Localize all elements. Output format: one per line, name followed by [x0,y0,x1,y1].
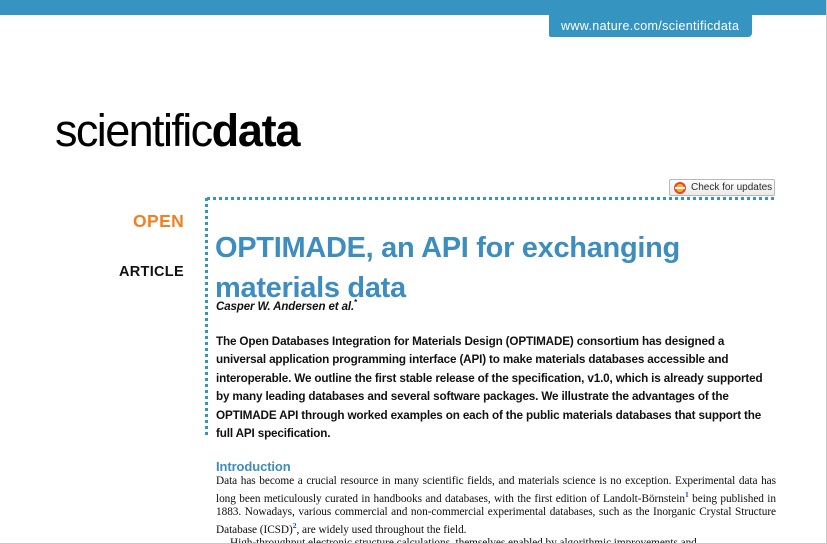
introduction-paragraph-2: High-throughput electronic structure cal… [216,537,776,544]
article-page: www.nature.com/scientificdata scientific… [0,0,827,544]
introduction-paragraph-1: Data has become a crucial resource in ma… [216,475,776,537]
journal-logo-word-data: data [212,105,300,156]
check-for-updates-label: Check for updates [691,180,772,195]
page-title: OPTIMADE, an API for exchanging material… [215,228,775,308]
open-access-label: OPEN [133,211,184,232]
article-type-label: ARTICLE [119,264,184,280]
vertical-dotted-rule [205,198,208,438]
introduction-body: Data has become a crucial resource in ma… [216,475,776,544]
check-for-updates-button[interactable]: Check for updates [669,179,775,196]
journal-logo-word-scientific: scientific [55,105,212,156]
abstract-text: The Open Databases Integration for Mater… [216,333,772,443]
author-footnote-marker: * [354,298,357,307]
author-line: Casper W. Andersen et al.* [216,298,357,313]
journal-logo: scientificdata [55,106,299,156]
crossmark-circle-icon [674,182,686,194]
introduction-heading: Introduction [216,459,291,474]
intro-p1-segment-3: , are widely used throughout the field. [296,524,466,536]
horizontal-dotted-rule [207,197,776,200]
journal-url-banner[interactable]: www.nature.com/scientificdata [549,15,752,37]
top-blue-bar [0,0,827,15]
author-names: Casper W. Andersen et al. [216,301,354,313]
